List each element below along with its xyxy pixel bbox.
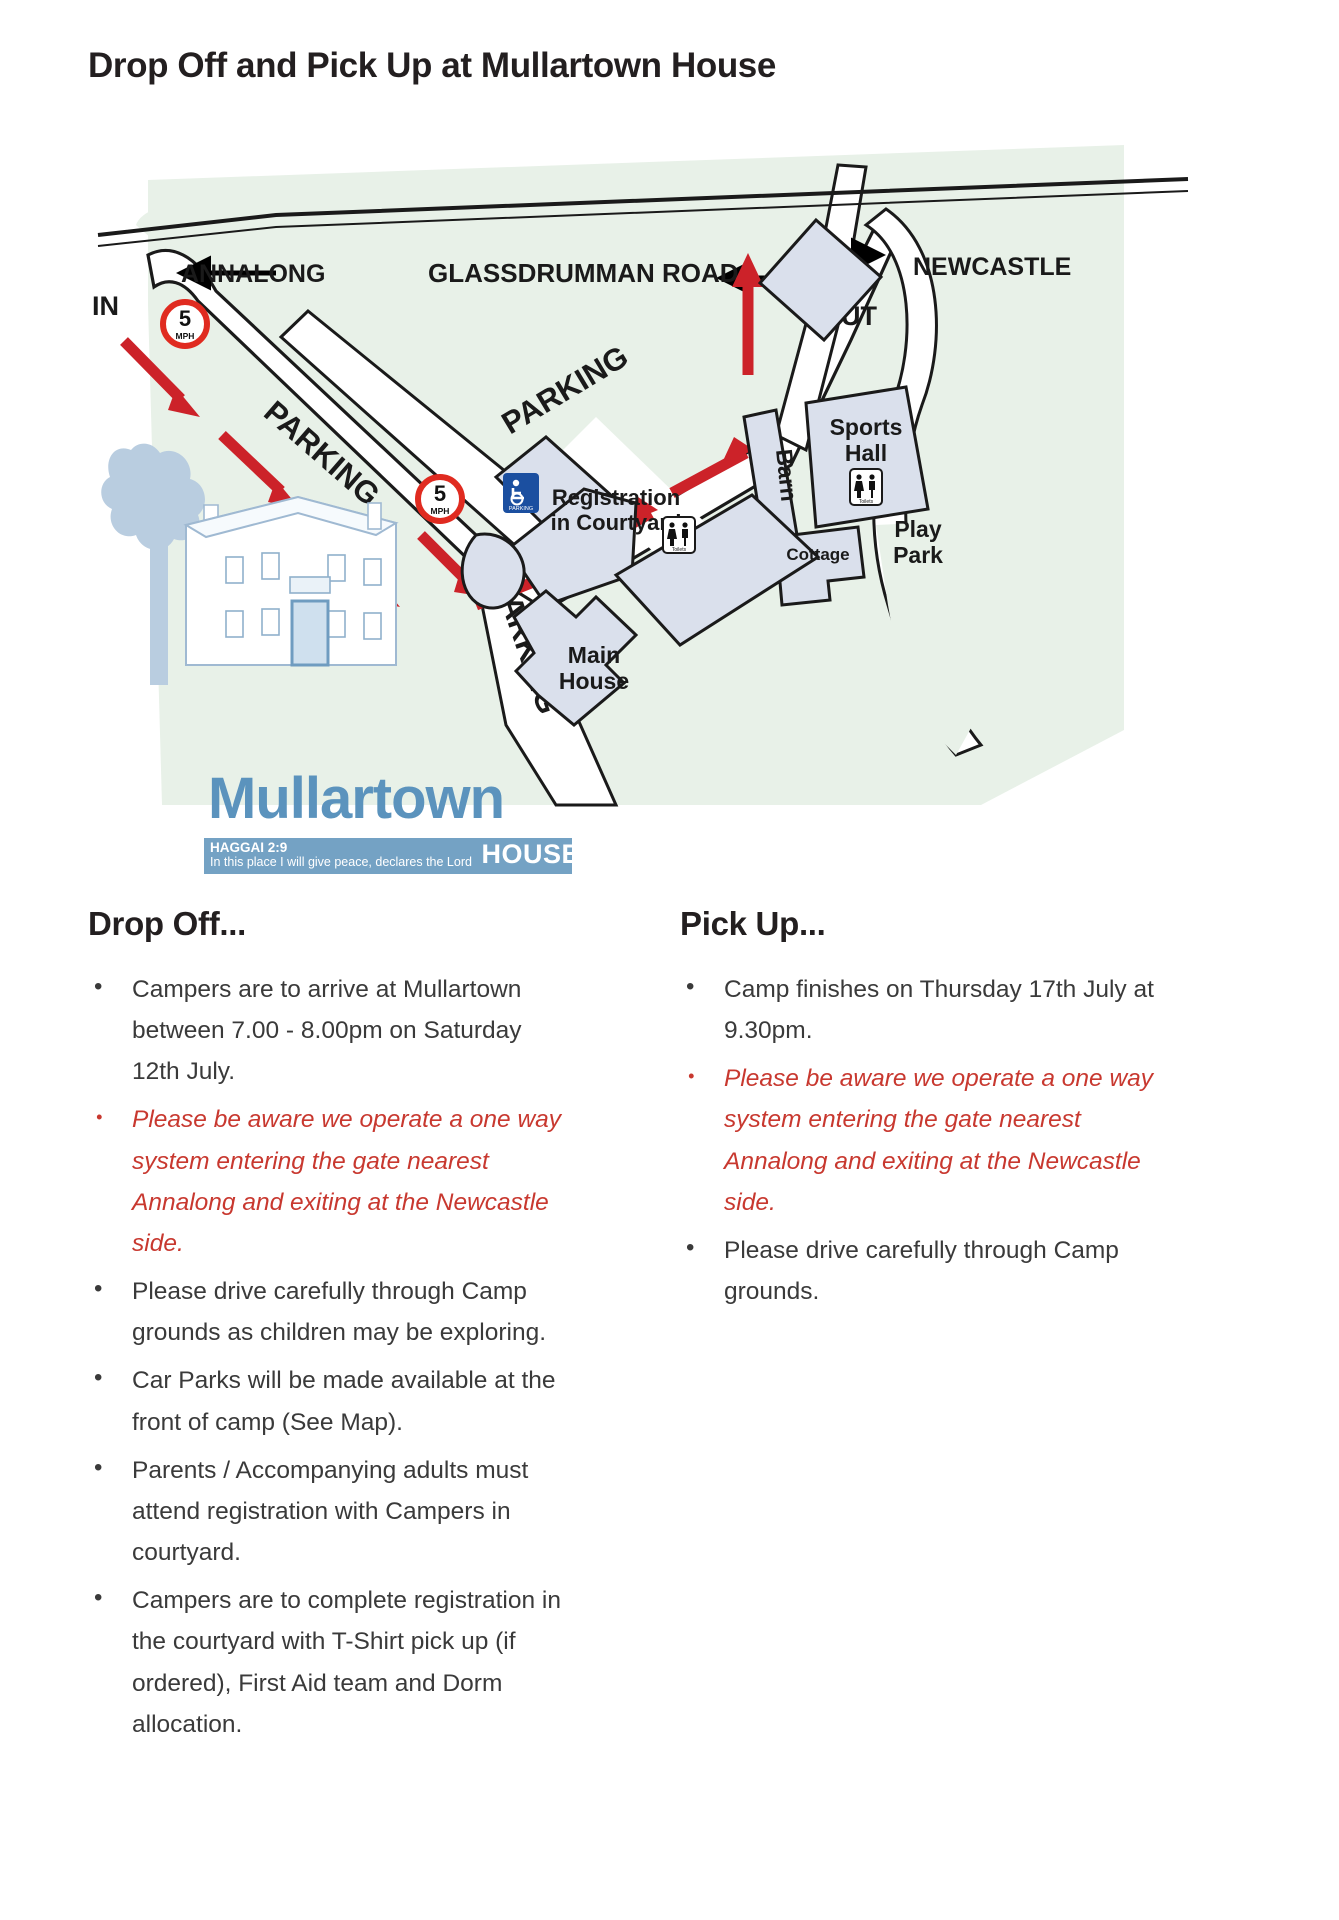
list-item: Please drive carefully through Camp grou… (88, 1271, 568, 1353)
svg-text:5: 5 (179, 306, 191, 331)
dropoff-column: Drop Off... Campers are to arrive at Mul… (88, 905, 568, 1752)
play-park-label-2: Park (893, 542, 943, 568)
sports-hall-label-1: Sports (830, 414, 903, 440)
list-item: Campers are to complete registration in … (88, 1580, 568, 1745)
registration-label-1: Registration (552, 485, 680, 510)
annalong-label: ANNALONG (181, 260, 325, 288)
in-gate-label: IN (92, 291, 119, 321)
speed-limit-sign-1: 5 MPH (163, 302, 207, 346)
tree-trunk (150, 525, 168, 685)
barn-label: Barn (771, 448, 802, 503)
svg-text:MPH: MPH (431, 506, 450, 516)
svg-text:5: 5 (434, 481, 446, 506)
toilets-icon-main-house: Toilets (663, 517, 695, 553)
logo-scripture-verse: In this place I will give peace, declare… (210, 855, 472, 869)
logo-wordmark: Mullartown (208, 770, 504, 828)
site-map: GLASSDRUMMAN ROAD ANNALONG NEWCASTLE IN … (76, 105, 1214, 850)
svg-text:PARKING: PARKING (509, 506, 533, 512)
list-item: Parents / Accompanying adults must atten… (88, 1450, 568, 1573)
toilets-icon-sports-hall: Toilets (850, 469, 882, 505)
house-balcony (290, 577, 330, 593)
list-item: Please be aware we operate a one way sys… (88, 1099, 568, 1264)
sports-hall-label-2: Hall (845, 440, 887, 466)
play-park-label-1: Play (894, 516, 942, 542)
mullartown-logo: Mullartown HAGGAI 2:9 In this place I wi… (198, 610, 588, 870)
list-item: Please be aware we operate a one way sys… (680, 1058, 1180, 1223)
logo-scripture-reference: HAGGAI 2:9 (210, 840, 287, 856)
list-item: Campers are to arrive at Mullartown betw… (88, 969, 568, 1092)
pickup-column: Pick Up... Camp finishes on Thursday 17t… (680, 905, 1180, 1319)
list-item: Car Parks will be made available at the … (88, 1360, 568, 1442)
dropoff-bullet-list: Campers are to arrive at Mullartown betw… (88, 969, 568, 1745)
poster-page: Drop Off and Pick Up at Mullartown House (0, 0, 1339, 1920)
cottage-label: Cottage (786, 545, 849, 564)
pickup-heading: Pick Up... (680, 905, 1180, 943)
svg-text:Toilets: Toilets (672, 547, 687, 553)
road-name-label: GLASSDRUMMAN ROAD (428, 258, 739, 288)
newcastle-label: NEWCASTLE (913, 253, 1071, 281)
dropoff-heading: Drop Off... (88, 905, 568, 943)
registration-label-2: in Courtyard (551, 510, 682, 535)
svg-text:MPH: MPH (176, 331, 195, 341)
logo-house-word: HOUSE (481, 839, 580, 870)
list-item: Camp finishes on Thursday 17th July at 9… (680, 969, 1180, 1051)
svg-text:Toilets: Toilets (859, 499, 874, 505)
list-item: Please drive carefully through Camp grou… (680, 1230, 1180, 1312)
page-title: Drop Off and Pick Up at Mullartown House (88, 46, 776, 86)
disabled-parking-icon: PARKING (503, 473, 539, 513)
speed-limit-sign-2: 5 MPH (418, 477, 462, 521)
pickup-bullet-list: Camp finishes on Thursday 17th July at 9… (680, 969, 1180, 1312)
